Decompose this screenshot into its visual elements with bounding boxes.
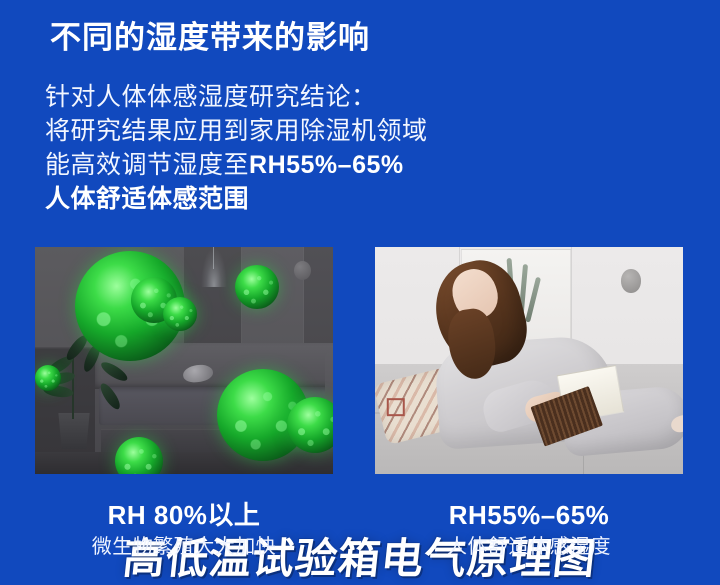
wall-knob-icon (294, 261, 311, 280)
dark-room-scene (35, 247, 333, 474)
body-line-3-emphasis: RH55%–65% (249, 151, 404, 179)
plant-pot (57, 413, 91, 449)
photo-right-comfort-humidity (375, 247, 683, 474)
hanging-lamp-icon (201, 247, 227, 287)
caption-right-title: RH55%–65% (375, 498, 683, 532)
body-line-1: 针对人体体感湿度研究结论： (45, 80, 485, 114)
page-title: 不同的湿度带来的影响 (50, 18, 370, 58)
infographic-page: 不同的湿度带来的影响 针对人体体感湿度研究结论： 将研究结果应用到家用除湿机领域… (0, 0, 720, 585)
wall-knob-icon (621, 269, 641, 293)
body-line-3: 能高效调节湿度至RH55%–65% (45, 148, 485, 182)
body-line-2: 将研究结果应用到家用除湿机领域 (45, 114, 485, 148)
body-copy: 针对人体体感湿度研究结论： 将研究结果应用到家用除湿机领域 能高效调节湿度至RH… (45, 80, 485, 216)
body-line-3-prefix: 能高效调节湿度至 (45, 151, 249, 179)
microbe-sphere (163, 297, 197, 331)
microbe-sphere (35, 365, 61, 391)
body-line-4: 人体舒适体感范围 (45, 182, 485, 216)
microbe-sphere (287, 397, 333, 453)
caption-left-title: RH 80%以上 (35, 498, 333, 532)
bright-room-scene (375, 247, 683, 474)
caption-right: RH55%–65% 人体舒适体感湿度 (375, 498, 683, 562)
cactus-blade (525, 277, 541, 323)
caption-row: RH 80%以上 微生物繁殖大大加快 RH55%–65% 人体舒适体感湿度 (0, 498, 720, 578)
microbe-sphere (235, 265, 279, 309)
microbe-sphere (115, 437, 163, 474)
caption-right-subtitle: 人体舒适体感湿度 (375, 532, 683, 562)
caption-left: RH 80%以上 微生物繁殖大大加快 (35, 498, 333, 562)
caption-left-subtitle: 微生物繁殖大大加快 (35, 532, 333, 562)
photo-row: 高低温试验箱电气原理图 (0, 247, 720, 474)
photo-left-high-humidity (35, 247, 333, 474)
